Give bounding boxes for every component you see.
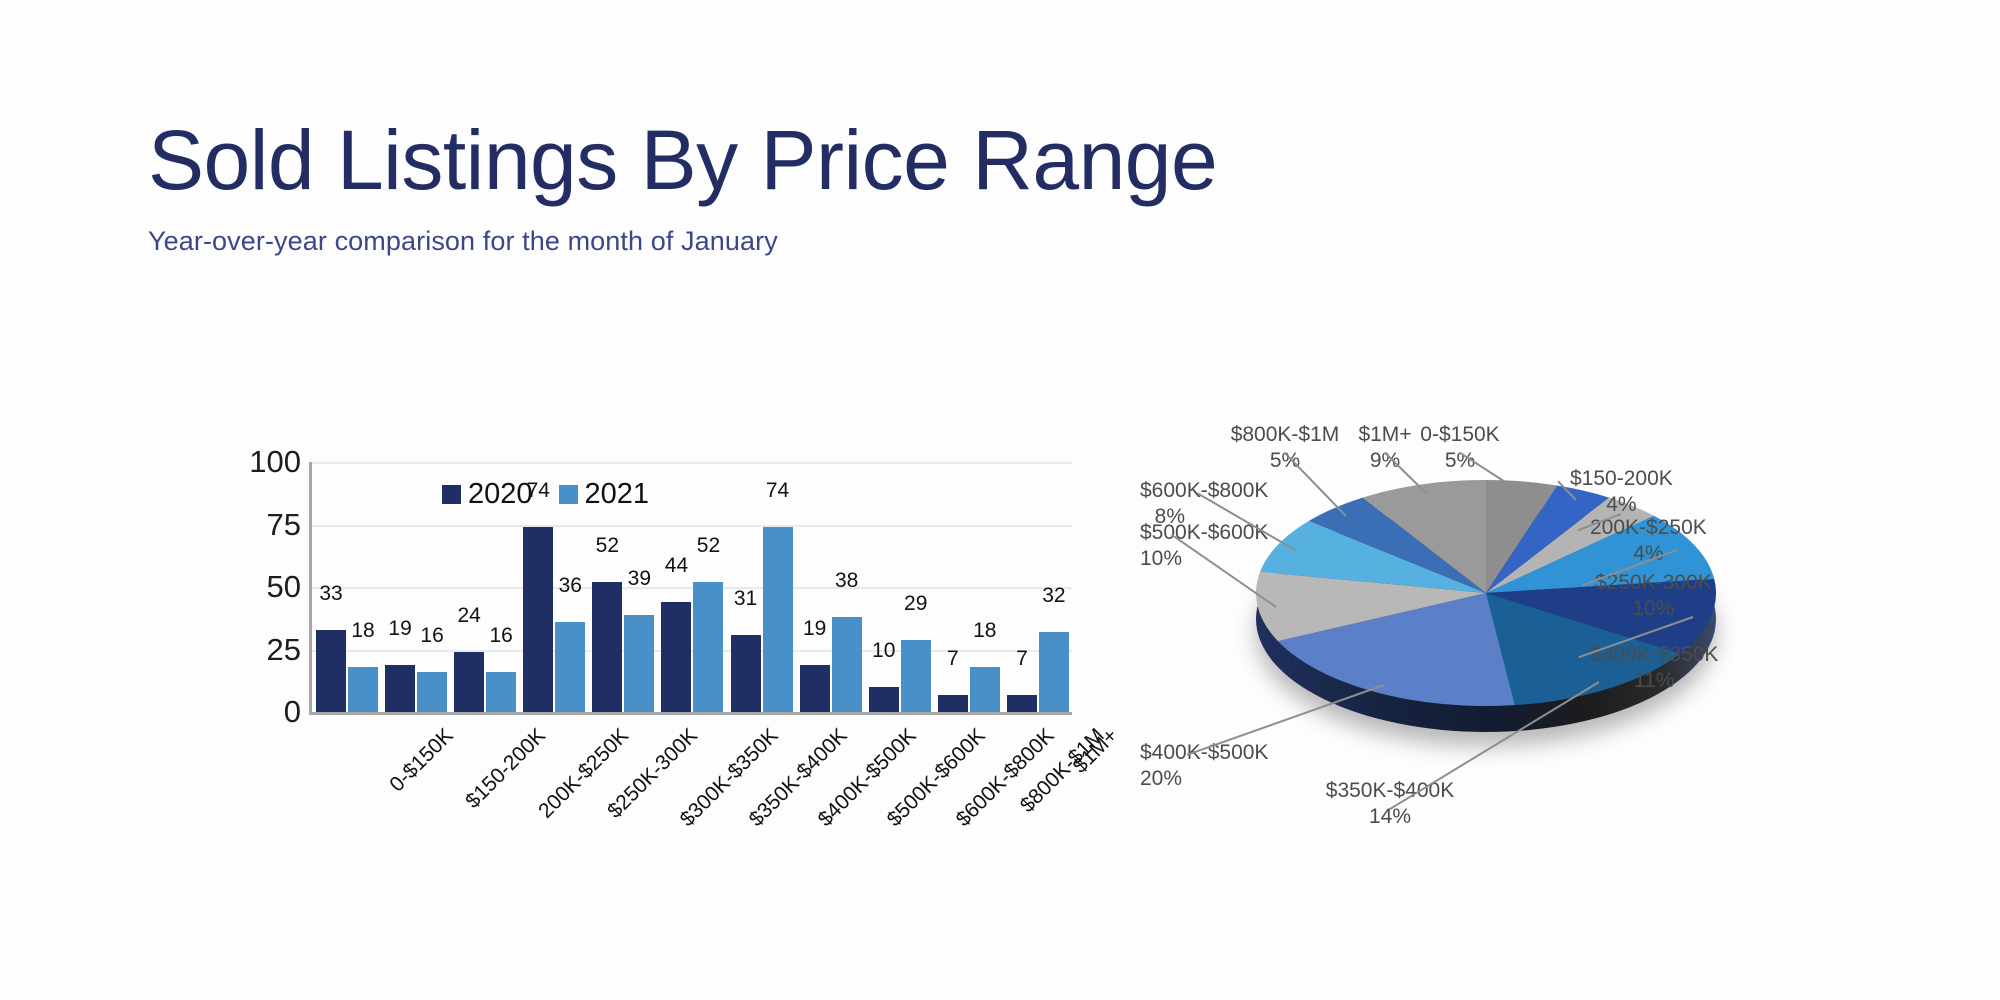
pie-label: $600K-$800K8% [1140,478,1185,529]
bar-value-label: 52 [579,534,635,558]
pie-label-value: 10% [1140,546,1160,572]
legend-label: 2021 [585,478,650,511]
legend-item-2020[interactable]: 2020 [442,478,533,511]
pie-label: $350K-$400K14% [1300,778,1480,829]
legend-swatch-icon [442,485,461,504]
pie-label: $300K-$350K11% [1590,642,1718,693]
bar-value-label: 33 [303,582,359,606]
bar-group: 1938 [796,462,865,712]
y-axis-tick-label: 75 [267,507,301,543]
pie-label-name: $400K-$500K [1140,740,1175,766]
bar-2021[interactable] [624,615,654,713]
x-axis-tick-label: 0-$150K [385,724,458,797]
pie-label-name: $600K-$800K [1140,478,1185,504]
bar-value-label: 32 [1026,584,1082,608]
bar-chart: 0255075100 20202021 0-$150K3318$150-200K… [205,450,1105,840]
bar-2021[interactable] [486,672,516,712]
pie-label: $400K-$500K20% [1140,740,1175,791]
y-axis-tick-label: 0 [284,694,301,730]
bar-2020[interactable] [938,695,968,713]
bar-2020[interactable] [800,665,830,713]
pie-label-value: 20% [1140,766,1175,792]
bar-group: 3318 [312,462,381,712]
bar-group: 1916 [381,462,450,712]
bar-2021[interactable] [1039,632,1069,712]
pie-label: $150-200K4% [1570,466,1673,517]
legend-swatch-icon [559,485,578,504]
page-title: Sold Listings By Price Range [148,118,1548,202]
bar-2020[interactable] [661,602,691,712]
bar-chart-plot-area: 20202021 0-$150K3318$150-200K1916200K-$2… [309,462,1072,715]
pie-chart: 0-$150K5%$150-200K4%200K-$250K4%$250K-30… [1140,430,1960,850]
bar-2021[interactable] [970,667,1000,712]
bar-2020[interactable] [523,527,553,712]
pie-label: $250K-300K10% [1595,570,1712,621]
y-axis-tick-label: 50 [267,569,301,605]
pie-label-name: $1M+ [1295,422,1475,448]
pie-label-value: 4% [1590,541,1707,567]
bar-chart-legend: 20202021 [442,478,649,511]
bar-2020[interactable] [385,665,415,713]
bar-chart-y-axis: 0255075100 [205,450,301,714]
bar-2021[interactable] [417,672,447,712]
bar-2020[interactable] [1007,695,1037,713]
header: Sold Listings By Price Range Year-over-y… [148,118,1548,257]
x-axis-tick-label: $150-200K [461,724,551,814]
bar-2020[interactable] [731,635,761,713]
y-axis-tick-label: 25 [267,632,301,668]
bar-group: 718 [934,462,1003,712]
bar-2021[interactable] [832,617,862,712]
pie-label: $1M+9% [1295,422,1475,473]
bar-2021[interactable] [555,622,585,712]
page-subtitle: Year-over-year comparison for the month … [148,226,1548,257]
bar-group: 4452 [657,462,726,712]
bar-group: 1029 [865,462,934,712]
pie-label-name: $150-200K [1570,466,1673,492]
bar-2021[interactable] [348,667,378,712]
bar-group: 732 [1003,462,1072,712]
pie-label-value: 10% [1595,596,1712,622]
bar-2020[interactable] [869,687,899,712]
legend-item-2021[interactable]: 2021 [559,478,650,511]
pie-label-value: 8% [1140,504,1185,530]
pie-label-name: $350K-$400K [1300,778,1480,804]
bar-group: 3174 [727,462,796,712]
bar-2020[interactable] [454,652,484,712]
pie-label-value: 11% [1590,668,1718,694]
legend-label: 2020 [468,478,533,511]
bar-2020[interactable] [592,582,622,712]
pie-label-value: 4% [1570,492,1673,518]
y-axis-tick-label: 100 [249,444,301,480]
